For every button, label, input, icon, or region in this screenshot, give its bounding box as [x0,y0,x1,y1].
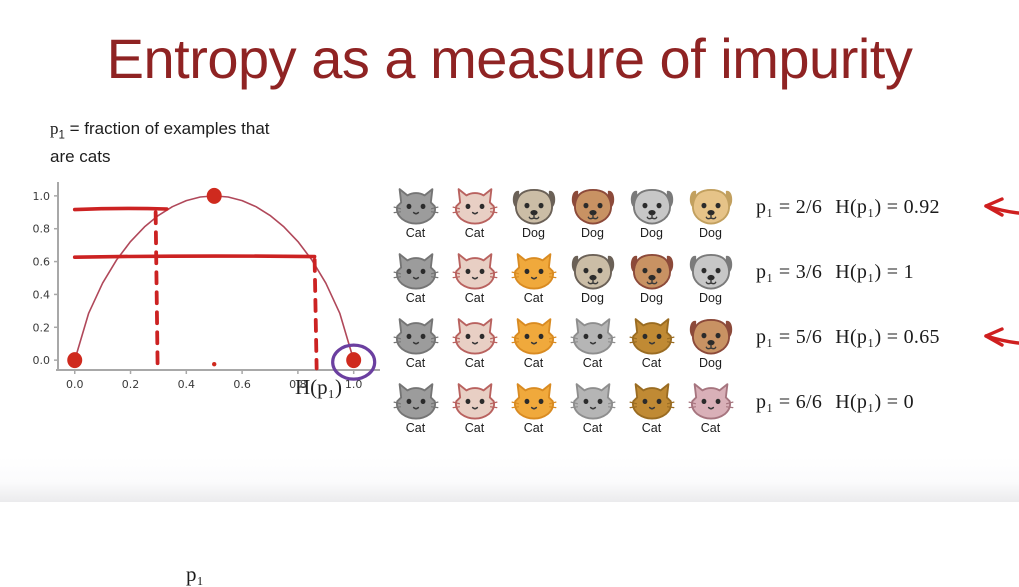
example-animal-cell: Cat [563,377,622,435]
cat-face-icon [450,182,500,226]
entropy-value: H(p₁) = 0.65 [835,326,940,348]
animal-label: Cat [563,422,622,435]
animal-label: Cat [622,422,681,435]
data-point-marker [68,353,82,368]
animal-label: Dog [504,227,563,240]
stray-dot-marker [212,362,216,366]
animal-label: Cat [386,292,445,305]
animal-label: Cat [386,357,445,370]
y-tick-label: 0.4 [33,288,51,301]
p1-value: p₁ = 6/6 [756,391,822,413]
x-tick-label: 0.4 [178,378,196,391]
example-animal-cell: Dog [563,247,622,305]
animal-label: Cat [386,227,445,240]
annotation-dashed-vertical-line [156,212,158,368]
animal-label: Dog [563,292,622,305]
cat-face-icon [391,312,441,356]
dog-face-icon [568,247,618,291]
page-title: Entropy as a measure of impurity [0,26,1019,91]
example-animal-cell: Dog [504,182,563,240]
example-animal-cell: Cat [504,377,563,435]
entropy-equation: p₁ = 6/6H(p₁) = 0 [756,391,914,414]
example-animal-cell: Dog [622,247,681,305]
animal-label: Cat [445,227,504,240]
cat-face-icon [627,377,677,421]
curve-label: H(p₁) [295,375,342,400]
chart-y-tick-labels: 0.00.20.40.60.81.0 [33,190,51,367]
dog-face-icon [627,182,677,226]
animal-label: Cat [445,357,504,370]
y-tick-label: 0.6 [33,256,51,269]
cat-face-icon [568,377,618,421]
example-animal-cell: Cat [386,182,445,240]
cat-face-icon [391,377,441,421]
example-animal-cell: Dog [681,247,740,305]
cat-face-icon [450,377,500,421]
example-animal-cell: Cat [622,377,681,435]
annotation-horizontal-line [75,208,167,209]
animal-label: Dog [563,227,622,240]
data-point-marker [347,353,361,368]
dog-face-icon [568,182,618,226]
example-animal-cell: Cat [681,377,740,435]
emphasis-arrow-icon [978,325,1019,351]
example-row: CatCatCatCatCatCat [386,377,740,442]
animal-label: Cat [445,292,504,305]
example-animal-cell: Cat [445,377,504,435]
example-row: CatCatCatDogDogDog [386,247,740,312]
entropy-value: H(p₁) = 0.92 [835,196,940,218]
entropy-value: H(p₁) = 1 [835,261,914,283]
y-tick-label: 1.0 [33,190,51,203]
example-animal-cell: Cat [386,247,445,305]
examples-grid: CatCatDogDogDogDogp₁ = 2/6H(p₁) = 0.92Ca… [386,182,740,442]
animal-label: Cat [386,422,445,435]
x-axis-title-text: p₁ [186,562,204,586]
entropy-equation: p₁ = 3/6H(p₁) = 1 [756,261,914,284]
animal-label: Dog [681,292,740,305]
subtitle-line-2: are cats [50,147,110,166]
animal-label: Dog [681,227,740,240]
animal-label: Cat [681,422,740,435]
p1-value: p₁ = 5/6 [756,326,822,348]
cat-face-icon [686,377,736,421]
example-animal-cell: Cat [563,312,622,370]
cat-face-icon [627,312,677,356]
dog-face-icon [627,247,677,291]
annotation-horizontal-line [75,256,315,257]
example-animal-cell: Cat [386,377,445,435]
animal-label: Dog [622,227,681,240]
x-tick-label: 0.2 [122,378,140,391]
dog-face-icon [509,182,559,226]
example-animal-cell: Dog [681,312,740,370]
subtitle-definition: p1 = fraction of examples that are cats [50,118,350,167]
animal-label: Cat [445,422,504,435]
y-tick-label: 0.0 [33,354,51,367]
dog-face-icon [686,312,736,356]
example-animal-cell: Cat [445,312,504,370]
entropy-chart: 0.00.20.40.60.81.0 0.00.20.40.60.81.0 H(… [8,172,388,422]
example-row: CatCatDogDogDogDog [386,182,740,247]
y-tick-label: 0.8 [33,223,51,236]
cat-face-icon [391,247,441,291]
entropy-equation: p₁ = 2/6H(p₁) = 0.92 [756,196,940,219]
cat-face-icon [450,312,500,356]
p1-value: p₁ = 2/6 [756,196,822,218]
animal-label: Cat [563,357,622,370]
dog-face-icon [686,182,736,226]
cat-face-icon [568,312,618,356]
chart-annotations [75,208,317,368]
annotation-dashed-vertical-line [315,260,317,368]
entropy-value: H(p₁) = 0 [835,391,914,413]
dog-face-icon [686,247,736,291]
animal-label: Dog [681,357,740,370]
example-animal-cell: Cat [504,312,563,370]
cat-face-icon [391,182,441,226]
example-animal-cell: Cat [386,312,445,370]
animal-label: Cat [504,357,563,370]
subtitle-line-1: p1 = fraction of examples that [50,119,270,138]
animal-label: Cat [622,357,681,370]
p1-value: p₁ = 3/6 [756,261,822,283]
example-animal-cell: Dog [681,182,740,240]
x-tick-label: 0.0 [66,378,84,391]
chart-axes [54,182,380,374]
cat-face-icon [509,377,559,421]
animal-label: Dog [622,292,681,305]
entropy-curve-path [75,196,354,360]
entropy-equation: p₁ = 5/6H(p₁) = 0.65 [756,326,940,349]
example-animal-cell: Cat [445,247,504,305]
emphasis-arrow-icon [978,195,1019,221]
example-animal-cell: Dog [622,182,681,240]
example-animal-cell: Dog [563,182,622,240]
entropy-curve [75,196,354,360]
subtitle-line1-rest: = fraction of examples that [65,119,270,138]
x-tick-label: 0.6 [233,378,251,391]
example-animal-cell: Cat [622,312,681,370]
cat-face-icon [450,247,500,291]
example-animal-cell: Cat [504,247,563,305]
animal-label: Cat [504,292,563,305]
subtitle-variable: p [50,119,59,138]
y-tick-label: 0.2 [33,321,51,334]
example-animal-cell: Cat [445,182,504,240]
cat-face-icon [509,312,559,356]
curve-label-text: H(p₁) [295,375,342,399]
cat-face-icon [509,247,559,291]
data-point-marker [207,188,221,203]
example-row: CatCatCatCatCatDog [386,312,740,377]
x-axis-title: p₁ [186,562,204,587]
animal-label: Cat [504,422,563,435]
